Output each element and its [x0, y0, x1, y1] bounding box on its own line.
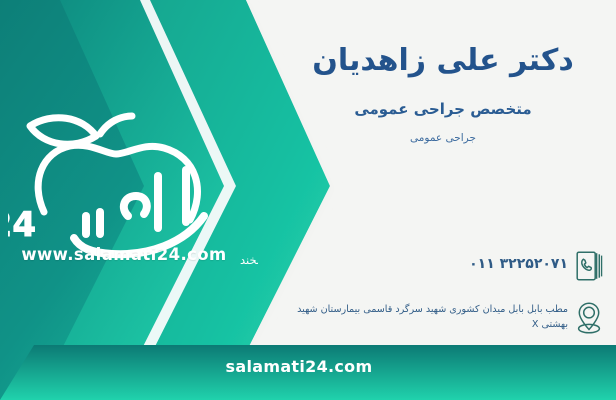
contact-row-address: مطب بابل بابل میدان کشوری شهید سرگرد قاس…	[288, 298, 610, 338]
doctor-profile-card: 24 براحتی یک لبخند www.salamati24.com دک…	[0, 0, 616, 400]
footer-website: salamati24.com	[0, 357, 616, 376]
logo-24-badge: 24	[8, 205, 36, 245]
logo-website-url: www.salamati24.com	[0, 245, 248, 264]
doctor-specialty: متخصص جراحی عمومی	[298, 100, 588, 120]
contact-list: ۰۱۱ ۳۲۲۵۲۰۷۱ مطب بابل بابل میدان کشوری ش…	[288, 246, 610, 350]
svg-text:24: 24	[8, 205, 36, 245]
location-pin-icon	[568, 298, 610, 338]
address-text: مطب بابل بابل میدان کشوری شهید سرگرد قاس…	[288, 298, 568, 333]
content-column: دکتر علی زاهدیان متخصص جراحی عمومی جراحی…	[286, 0, 616, 400]
footer-bar: salamati24.com	[0, 345, 616, 400]
phone-book-icon	[568, 246, 610, 286]
phone-number: ۰۱۱ ۳۲۲۵۲۰۷۱	[288, 246, 568, 276]
doctor-name: دکتر علی زاهدیان	[298, 42, 588, 80]
doctor-field: جراحی عمومی	[298, 132, 588, 146]
contact-row-phone: ۰۱۱ ۳۲۲۵۲۰۷۱	[288, 246, 610, 286]
